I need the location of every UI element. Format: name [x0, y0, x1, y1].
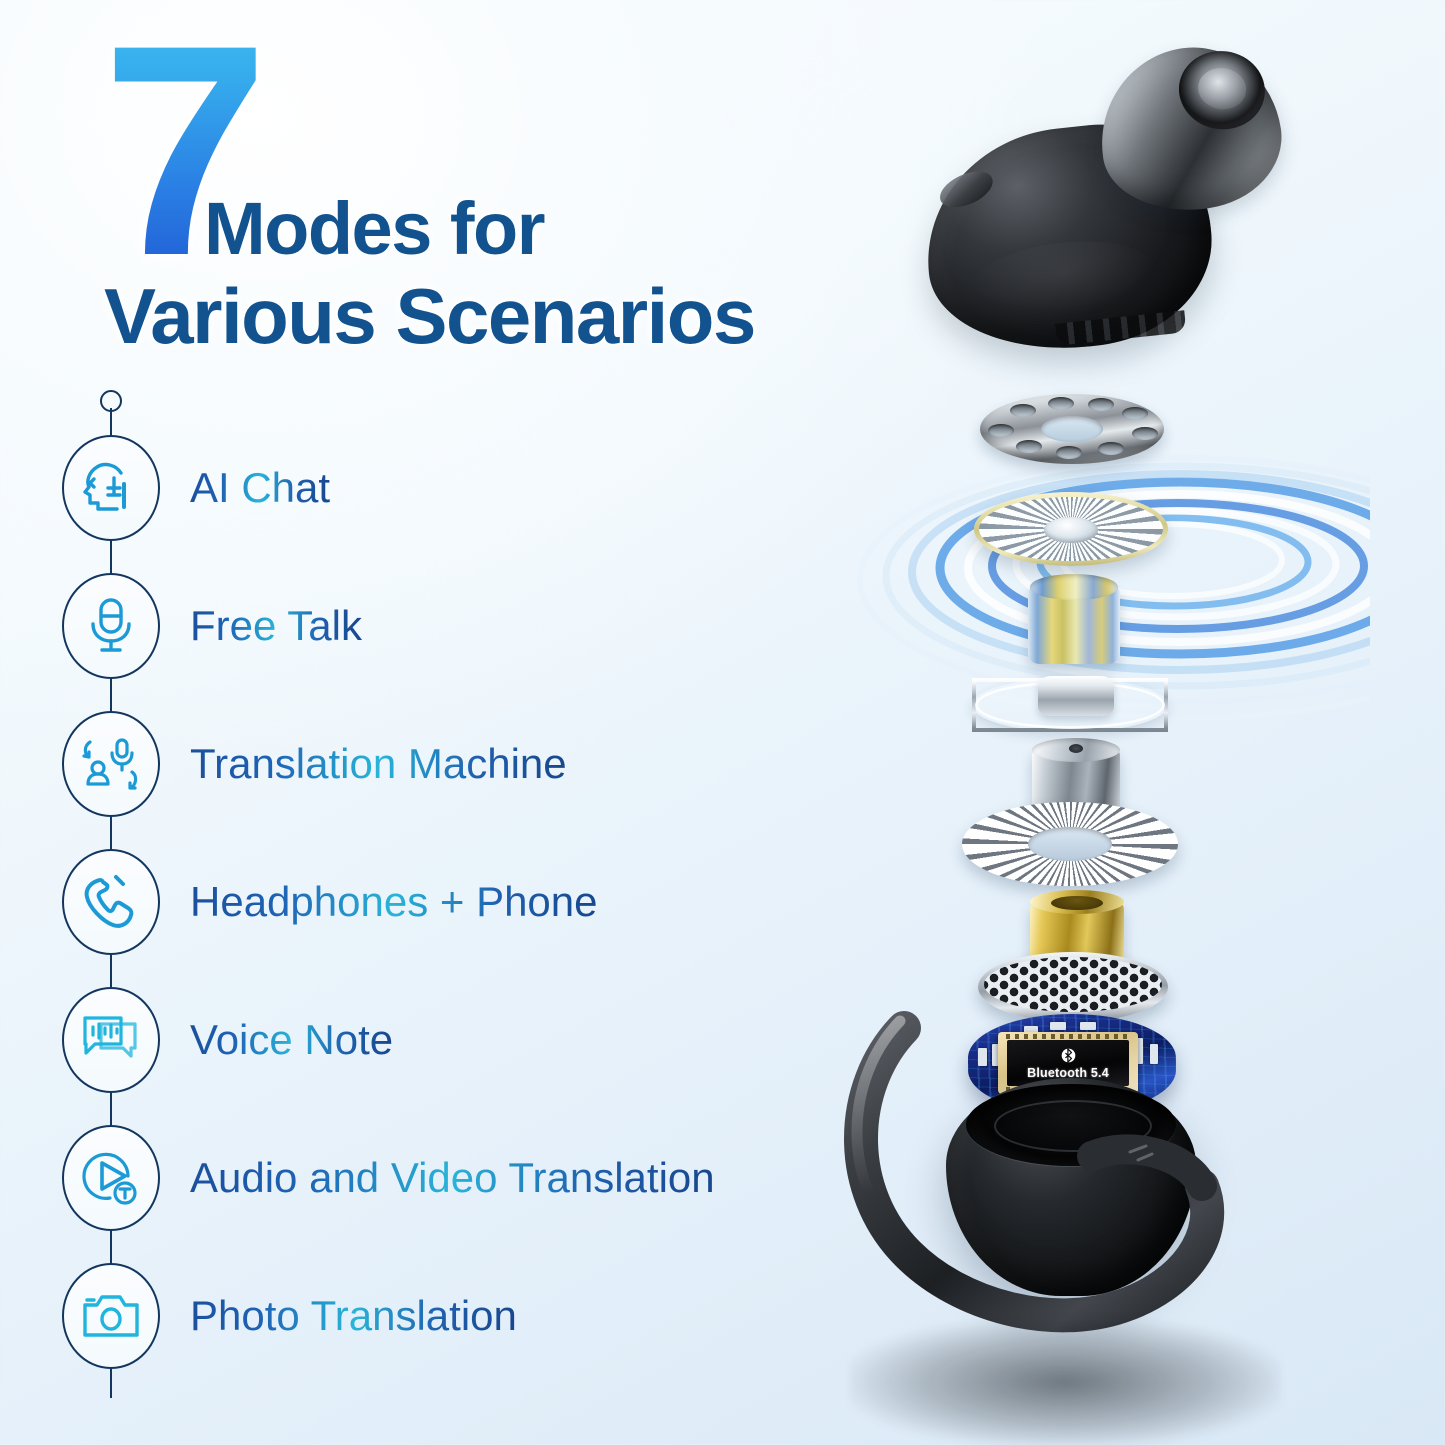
mic-port [935, 164, 998, 214]
grille-center-hole [1041, 416, 1103, 442]
mode-label: AI Chat [190, 464, 330, 512]
speaker-driver-diaphragm [974, 492, 1168, 566]
mode-item-headphones-phone[interactable]: Headphones + Phone [0, 834, 800, 970]
play-translate-icon [62, 1125, 160, 1231]
camera-icon [62, 1263, 160, 1369]
sunburst-center-hole [1028, 827, 1112, 861]
mode-label: Translation Machine [190, 740, 567, 788]
phone-handset-icon [62, 849, 160, 955]
microphone-icon [62, 573, 160, 679]
headline-line-1: Modes for [204, 192, 544, 266]
mode-item-photo-translation[interactable]: Photo Translation [0, 1248, 800, 1384]
voice-coil [1028, 584, 1120, 664]
metal-grille [980, 394, 1164, 464]
diaphragm-dome [1044, 517, 1098, 543]
product-shadow [850, 1318, 1280, 1445]
headline-line-2: Various Scenarios [104, 277, 755, 355]
housing-vent-slots [1055, 310, 1187, 345]
mode-label: Photo Translation [190, 1292, 517, 1340]
timeline-pin-icon [100, 390, 122, 412]
mode-label: Voice Note [190, 1016, 393, 1064]
mode-label: Free Talk [190, 602, 362, 650]
center-stud [1038, 676, 1114, 716]
mode-item-ai-chat[interactable]: AI Chat [0, 420, 800, 556]
mode-item-audio-video-translation[interactable]: Audio and Video Translation [0, 1110, 800, 1246]
mode-item-voice-note[interactable]: Voice Note [0, 972, 800, 1108]
voice-chat-bubble-icon [62, 987, 160, 1093]
mode-item-translation-machine[interactable]: Translation Machine [0, 696, 800, 832]
ai-head-icon [62, 435, 160, 541]
mode-item-free-talk[interactable]: Free Talk [0, 558, 800, 694]
sunburst-plate [962, 802, 1178, 886]
translation-exchange-icon [62, 711, 160, 817]
ear-tip-bore [1174, 46, 1270, 135]
mode-label: Headphones + Phone [190, 878, 598, 926]
mode-label: Audio and Video Translation [190, 1154, 715, 1202]
product-exploded-view: Bluetooth 5.4 [700, 0, 1445, 1445]
modes-timeline: AI Chat Free Talk Transla [0, 378, 800, 1438]
